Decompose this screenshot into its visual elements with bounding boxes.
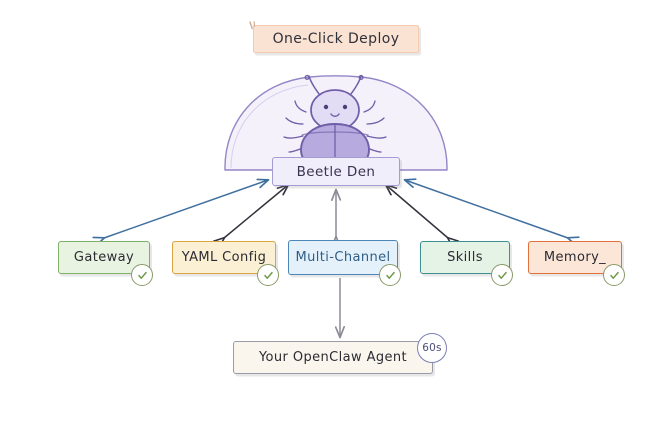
diagram-title-banner: One-Click Deploy xyxy=(253,25,419,53)
connector-hub-gateway xyxy=(104,180,268,238)
hub-node-beetle-den[interactable]: Beetle Den xyxy=(272,157,400,186)
check-icon-memory xyxy=(603,264,625,286)
page-title: One-Click Deploy xyxy=(273,31,400,47)
output-node-label: Your OpenClaw Agent xyxy=(259,350,407,365)
title-tick-mark xyxy=(249,21,258,30)
check-icon-multi-channel xyxy=(379,264,401,286)
component-label-multi-channel: Multi-Channel xyxy=(295,250,390,265)
component-label-skills: Skills xyxy=(447,250,483,265)
duration-badge: 60s xyxy=(417,333,447,363)
check-icon-gateway xyxy=(131,264,153,286)
component-label-memory: Memory_ xyxy=(544,250,606,265)
duration-badge-label: 60s xyxy=(422,342,441,354)
component-label-gateway: Gateway xyxy=(74,250,134,265)
check-icon-yaml-config xyxy=(257,264,279,286)
component-label-yaml-config: YAML Config xyxy=(182,250,267,265)
output-node-agent[interactable]: Your OpenClaw Agent xyxy=(233,341,433,374)
check-icon-skills xyxy=(491,264,513,286)
connector-hub-memory xyxy=(405,180,568,238)
diagram-canvas xyxy=(0,0,672,448)
connector-hub-skills xyxy=(386,185,448,238)
hub-node-label: Beetle Den xyxy=(297,164,376,180)
